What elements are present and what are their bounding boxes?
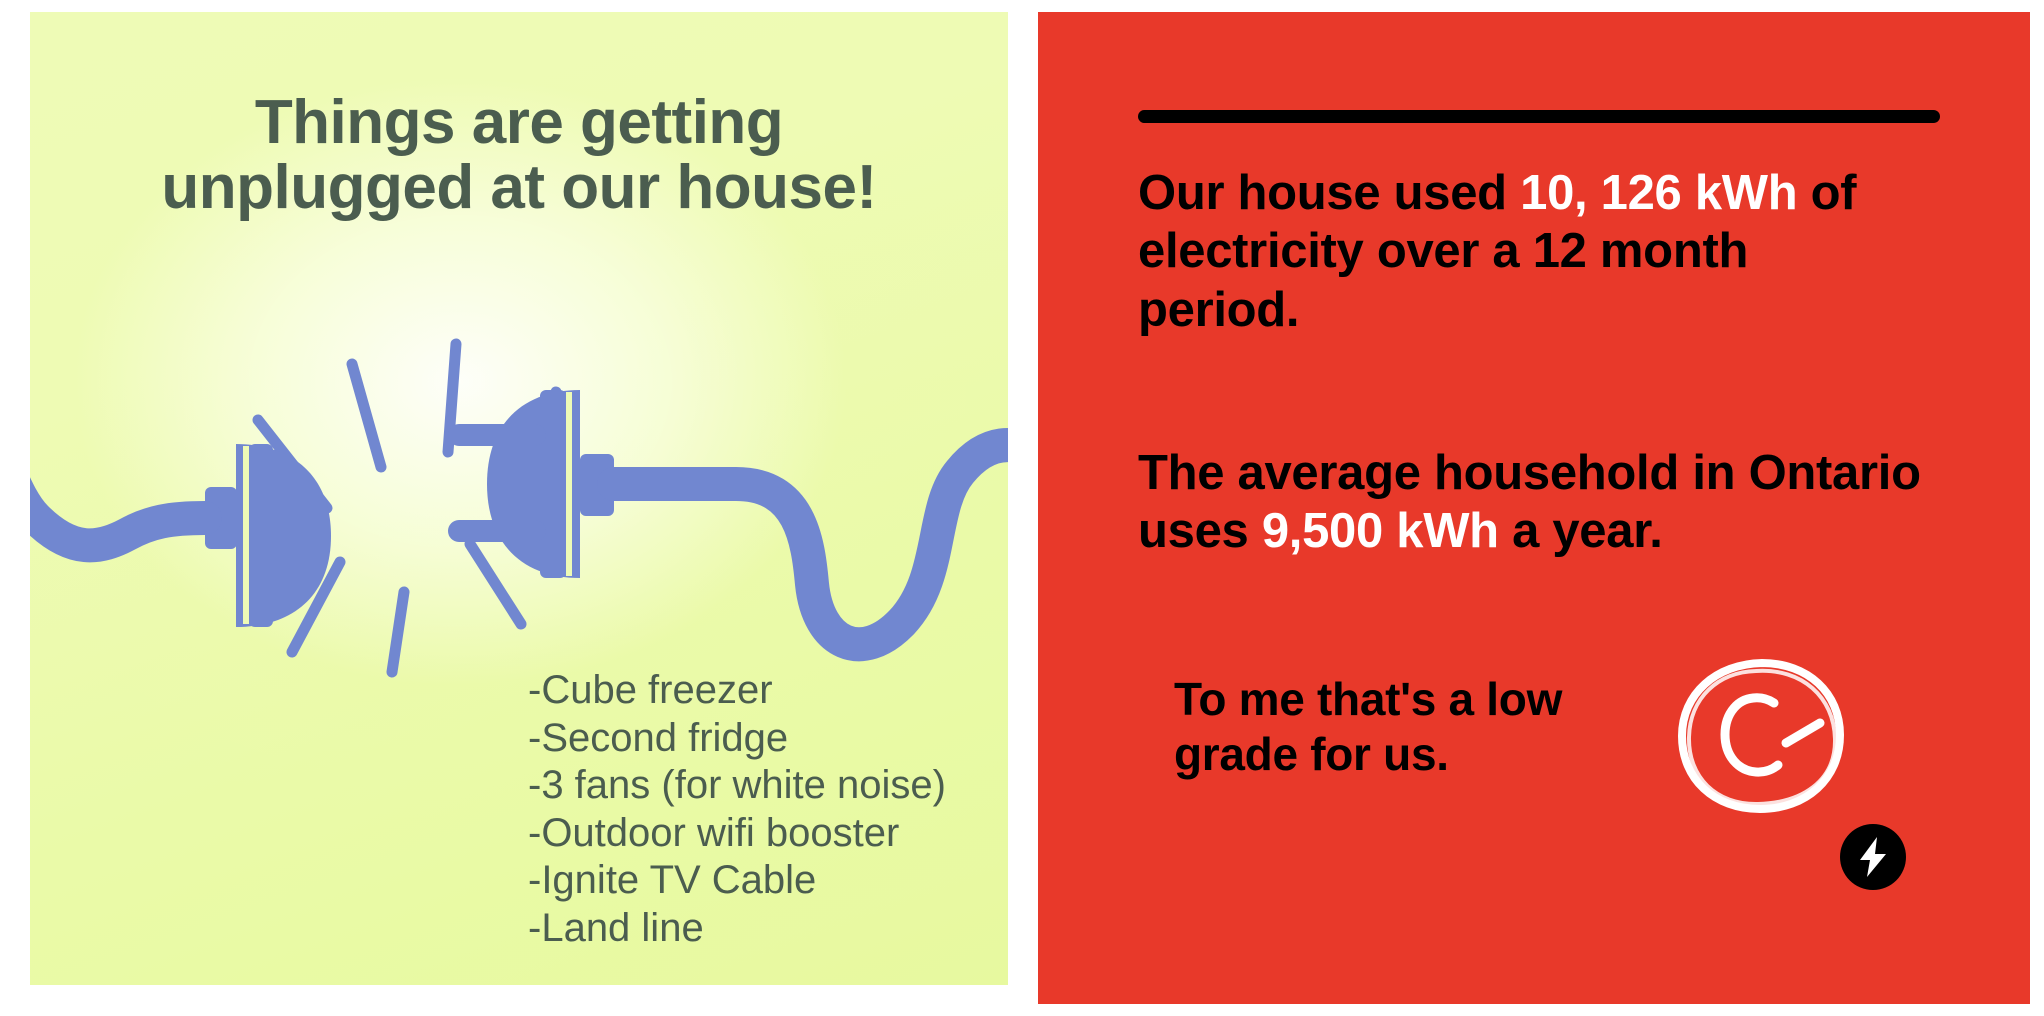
grade-comment-line-1: To me that's a low [1174,673,1562,725]
stat1-highlight: 10, 126 kWh [1520,166,1797,220]
list-item: -Second fridge [528,715,946,763]
stat1-pre: Our house used [1138,166,1520,220]
divider-rule [1138,110,1940,123]
list-item: -3 fans (for white noise) [528,762,946,810]
ontario-average-statement: The average household in Ontario uses 9,… [1138,444,1928,561]
stat2-post: a year. [1499,504,1663,558]
lightning-bolt-icon [1840,824,1906,890]
list-item: -Land line [528,905,946,953]
list-item: -Outdoor wifi booster [528,810,946,858]
grade-row: To me that's a low grade for us. [1174,657,1994,837]
list-item: -Cube freezer [528,667,946,715]
title-line-2: unplugged at our house! [58,155,980,220]
unplugged-poster-panel: Things are getting unplugged at our hous… [30,12,1008,985]
list-item: -Ignite TV Cable [528,857,946,905]
house-usage-statement: Our house used 10, 126 kWh of electricit… [1138,164,1878,339]
unplugged-items-list: -Cube freezer -Second fridge -3 fans (fo… [528,667,946,953]
stat2-highlight: 9,500 kWh [1262,504,1499,558]
energy-stats-panel: Our house used 10, 126 kWh of electricit… [1038,12,2030,1004]
page-title: Things are getting unplugged at our hous… [30,90,1008,220]
title-line-1: Things are getting [255,88,783,157]
grade-comment-line-2: grade for us. [1174,728,1449,780]
grade-comment: To me that's a low grade for us. [1174,672,1574,782]
unplugged-plug-illustration [30,272,1008,692]
grade-c-minus-badge [1670,651,1850,821]
